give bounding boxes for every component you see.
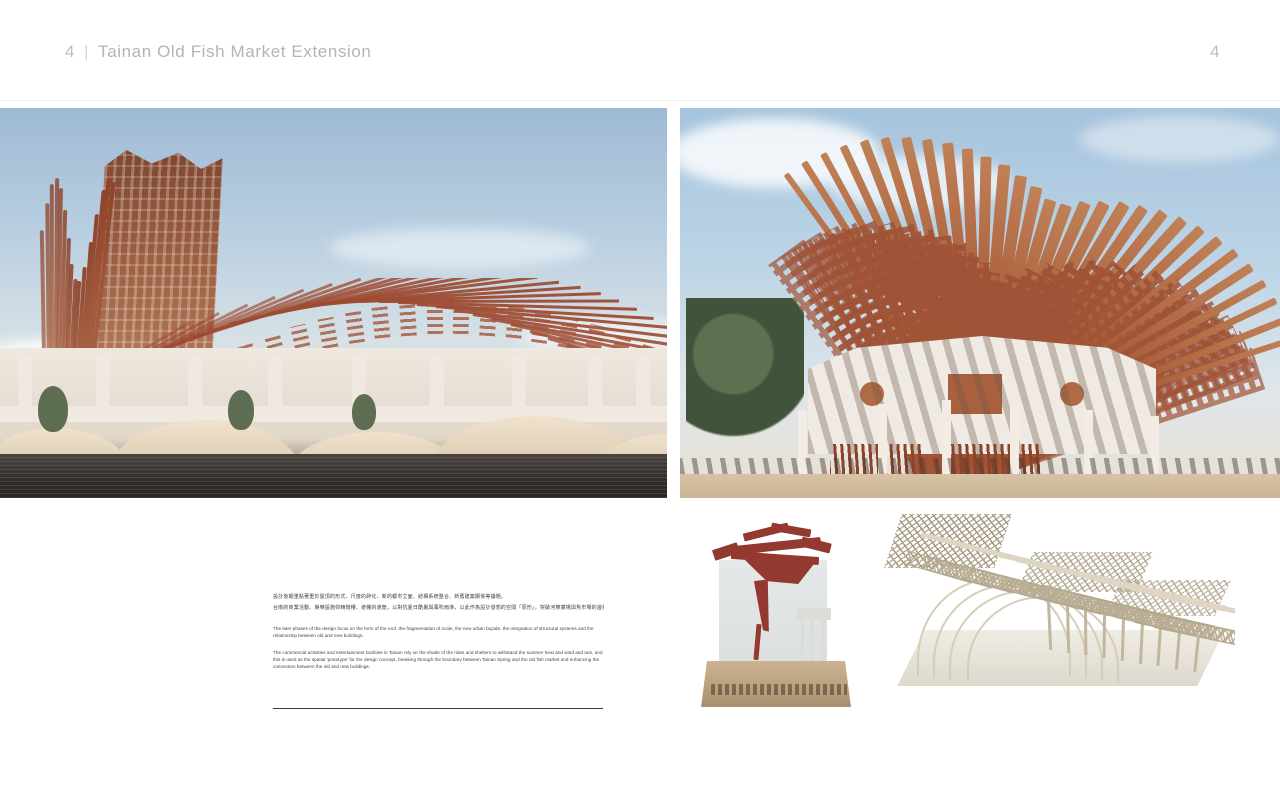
section-number: 4 (65, 42, 75, 62)
canopy-perforated-panel (505, 306, 524, 339)
project-title: Tainan Old Fish Market Extension (98, 42, 371, 62)
english-paragraph: The later phases of the design focus on … (273, 625, 604, 640)
title-separator: | (84, 42, 89, 62)
canopy-perforated-panel (372, 306, 391, 339)
english-paragraph: The commercial activities and entertainm… (273, 649, 604, 671)
header-divider (0, 100, 1280, 101)
model-red-member (800, 537, 832, 554)
description-text-block: 設計後期重點著重於屋頂的形式、尺度的碎化、新的都市立面、結構系統整合、新舊建築關… (273, 592, 604, 680)
physical-concept-model-photo (697, 512, 855, 707)
canopy-perforated-panel (317, 317, 338, 349)
canopy-perforated-panel (426, 302, 443, 334)
tree (228, 390, 254, 430)
structural-model-render (875, 506, 1235, 692)
ground-plane (680, 474, 1280, 498)
chinese-line: 台南的商業活動、娛樂設施仰賴騎樓、遮棚的遮蔭，以對抗夏日酷暑與風吹雨淋，以此作為… (273, 603, 604, 614)
tree (352, 394, 376, 430)
canopy-perforated-panel (479, 303, 497, 336)
page-number: 4 (1210, 42, 1220, 62)
tree (38, 386, 68, 432)
model-red-member (771, 523, 812, 538)
model-timber-base (701, 661, 851, 707)
oculus-window (1060, 382, 1084, 406)
cloud (1080, 116, 1280, 162)
chinese-text: 設計後期重點著重於屋頂的形式、尺度的碎化、新的都市立面、結構系統整合、新舊建築關… (273, 592, 604, 613)
model-base-engraving (711, 684, 847, 695)
model-white-leg (821, 616, 826, 668)
model-white-leg (801, 618, 804, 664)
market-facade (808, 336, 1156, 454)
model-white-leg (811, 618, 814, 664)
oculus-window (860, 382, 884, 406)
worms-eye-canopy-render (680, 108, 1280, 498)
square-window (948, 374, 1002, 414)
water-basin (0, 454, 667, 498)
exterior-perspective-render: /*blades injected*/ (0, 108, 667, 498)
portfolio-page: 4 | Tainan Old Fish Market Extension 4 /… (0, 0, 1280, 800)
page-header: 4 | Tainan Old Fish Market Extension 4 (0, 0, 1280, 108)
text-block-underline (273, 708, 603, 709)
canopy-perforated-panel (399, 303, 417, 336)
tree (686, 298, 804, 463)
canopy-perforated-panel (345, 311, 365, 344)
cloud (330, 228, 590, 268)
chinese-line: 設計後期重點著重於屋頂的形式、尺度的碎化、新的都市立面、結構系統整合、新舊建築關… (273, 592, 604, 603)
canopy-perforated-panel (453, 302, 470, 334)
page-title: 4 | Tainan Old Fish Market Extension (65, 42, 371, 62)
